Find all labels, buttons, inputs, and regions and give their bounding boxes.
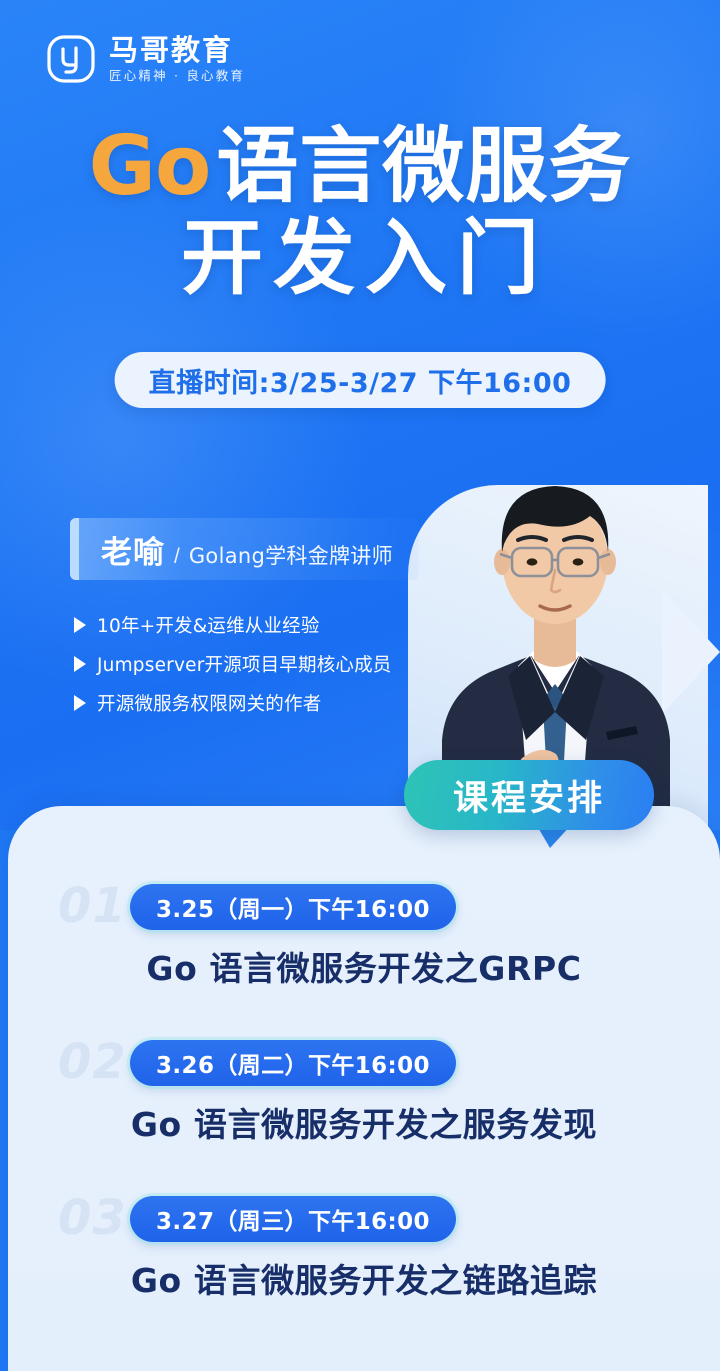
credential-text: 开源微服务权限网关的作者 bbox=[97, 690, 321, 716]
page-title: Go语言微服务 开发入门 bbox=[0, 126, 720, 300]
live-time-badge: 直播时间:3/25-3/27 下午16:00 bbox=[115, 352, 606, 408]
credential-text: Jumpserver开源项目早期核心成员 bbox=[97, 651, 392, 677]
course-title: Go 语言微服务开发之GRPC bbox=[8, 942, 720, 990]
list-item: 开源微服务权限网关的作者 bbox=[74, 690, 404, 716]
instructor-title: Golang学科金牌讲师 bbox=[189, 540, 393, 570]
course-date-badge: 3.27（周三）下午16:00 bbox=[130, 1196, 456, 1242]
course-title: Go 语言微服务开发之服务发现 bbox=[8, 1098, 720, 1146]
triangle-bullet-icon bbox=[74, 617, 86, 633]
brand-logo: 马哥教育 匠心精神 · 良心教育 bbox=[46, 34, 245, 84]
triangle-bullet-icon bbox=[74, 695, 86, 711]
live-time-text: 直播时间:3/25-3/27 下午16:00 bbox=[149, 361, 572, 400]
instructor-credentials: 10年+开发&运维从业经验 Jumpserver开源项目早期核心成员 开源微服务… bbox=[74, 612, 404, 729]
headline-go: Go bbox=[89, 119, 211, 214]
instructor-name: 老喻 bbox=[101, 527, 165, 572]
course-date-text: 3.26（周二）下午16:00 bbox=[156, 1046, 430, 1080]
magedu-logo-icon bbox=[46, 34, 96, 84]
headline-line-1: Go语言微服务 bbox=[0, 126, 720, 208]
headline-line-2: 开发入门 bbox=[0, 218, 720, 300]
course-index: 01 bbox=[58, 878, 127, 934]
section-badge-label: 课程安排 bbox=[453, 770, 605, 821]
course-date-text: 3.27（周三）下午16:00 bbox=[156, 1202, 430, 1236]
section-badge: 课程安排 bbox=[404, 760, 654, 830]
list-item: 10年+开发&运维从业经验 bbox=[74, 612, 404, 638]
course-schedule-card: 01 3.25（周一）下午16:00 Go 语言微服务开发之GRPC 02 3.… bbox=[8, 806, 720, 1371]
list-item: Jumpserver开源项目早期核心成员 bbox=[74, 651, 404, 677]
name-separator: / bbox=[174, 545, 180, 569]
course-date-text: 3.25（周一）下午16:00 bbox=[156, 890, 430, 924]
headline-line-1-rest: 语言微服务 bbox=[216, 119, 631, 214]
brand-text: 马哥教育 匠心精神 · 良心教育 bbox=[109, 35, 245, 83]
course-index: 03 bbox=[58, 1190, 127, 1246]
course-index: 02 bbox=[58, 1034, 127, 1090]
course-title: Go 语言微服务开发之链路追踪 bbox=[8, 1254, 720, 1302]
triangle-bullet-icon bbox=[74, 656, 86, 672]
name-inner: 老喻 / Golang学科金牌讲师 bbox=[79, 527, 419, 572]
course-date-badge: 3.26（周二）下午16:00 bbox=[130, 1040, 456, 1086]
promo-poster: 马哥教育 匠心精神 · 良心教育 Go语言微服务 开发入门 直播时间:3/25-… bbox=[0, 0, 720, 1371]
credential-text: 10年+开发&运维从业经验 bbox=[97, 612, 320, 638]
course-date-badge: 3.25（周一）下午16:00 bbox=[130, 884, 456, 930]
brand-name: 马哥教育 bbox=[109, 35, 245, 65]
brand-slogan: 匠心精神 · 良心教育 bbox=[109, 70, 245, 83]
instructor-name-banner: 老喻 / Golang学科金牌讲师 bbox=[70, 518, 419, 580]
name-accent-bar bbox=[70, 518, 79, 580]
